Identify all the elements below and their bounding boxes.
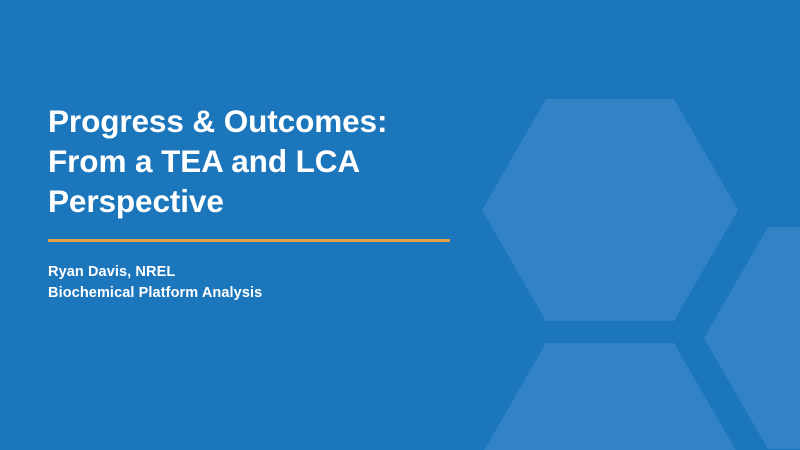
page-title: Progress & Outcomes: From a TEA and LCA … [48, 101, 468, 221]
hexagon-main-icon [482, 99, 738, 321]
byline: Ryan Davis, NREL Biochemical Platform An… [48, 262, 468, 304]
hexagon-bottom-icon [482, 343, 738, 450]
title-slide: Progress & Outcomes: From a TEA and LCA … [0, 0, 800, 450]
title-divider [48, 239, 450, 242]
byline-affiliation: Biochemical Platform Analysis [48, 283, 468, 304]
slide-text-block: Progress & Outcomes: From a TEA and LCA … [48, 0, 478, 450]
hexagon-right-edge-icon [704, 227, 800, 449]
byline-presenter: Ryan Davis, NREL [48, 262, 468, 283]
